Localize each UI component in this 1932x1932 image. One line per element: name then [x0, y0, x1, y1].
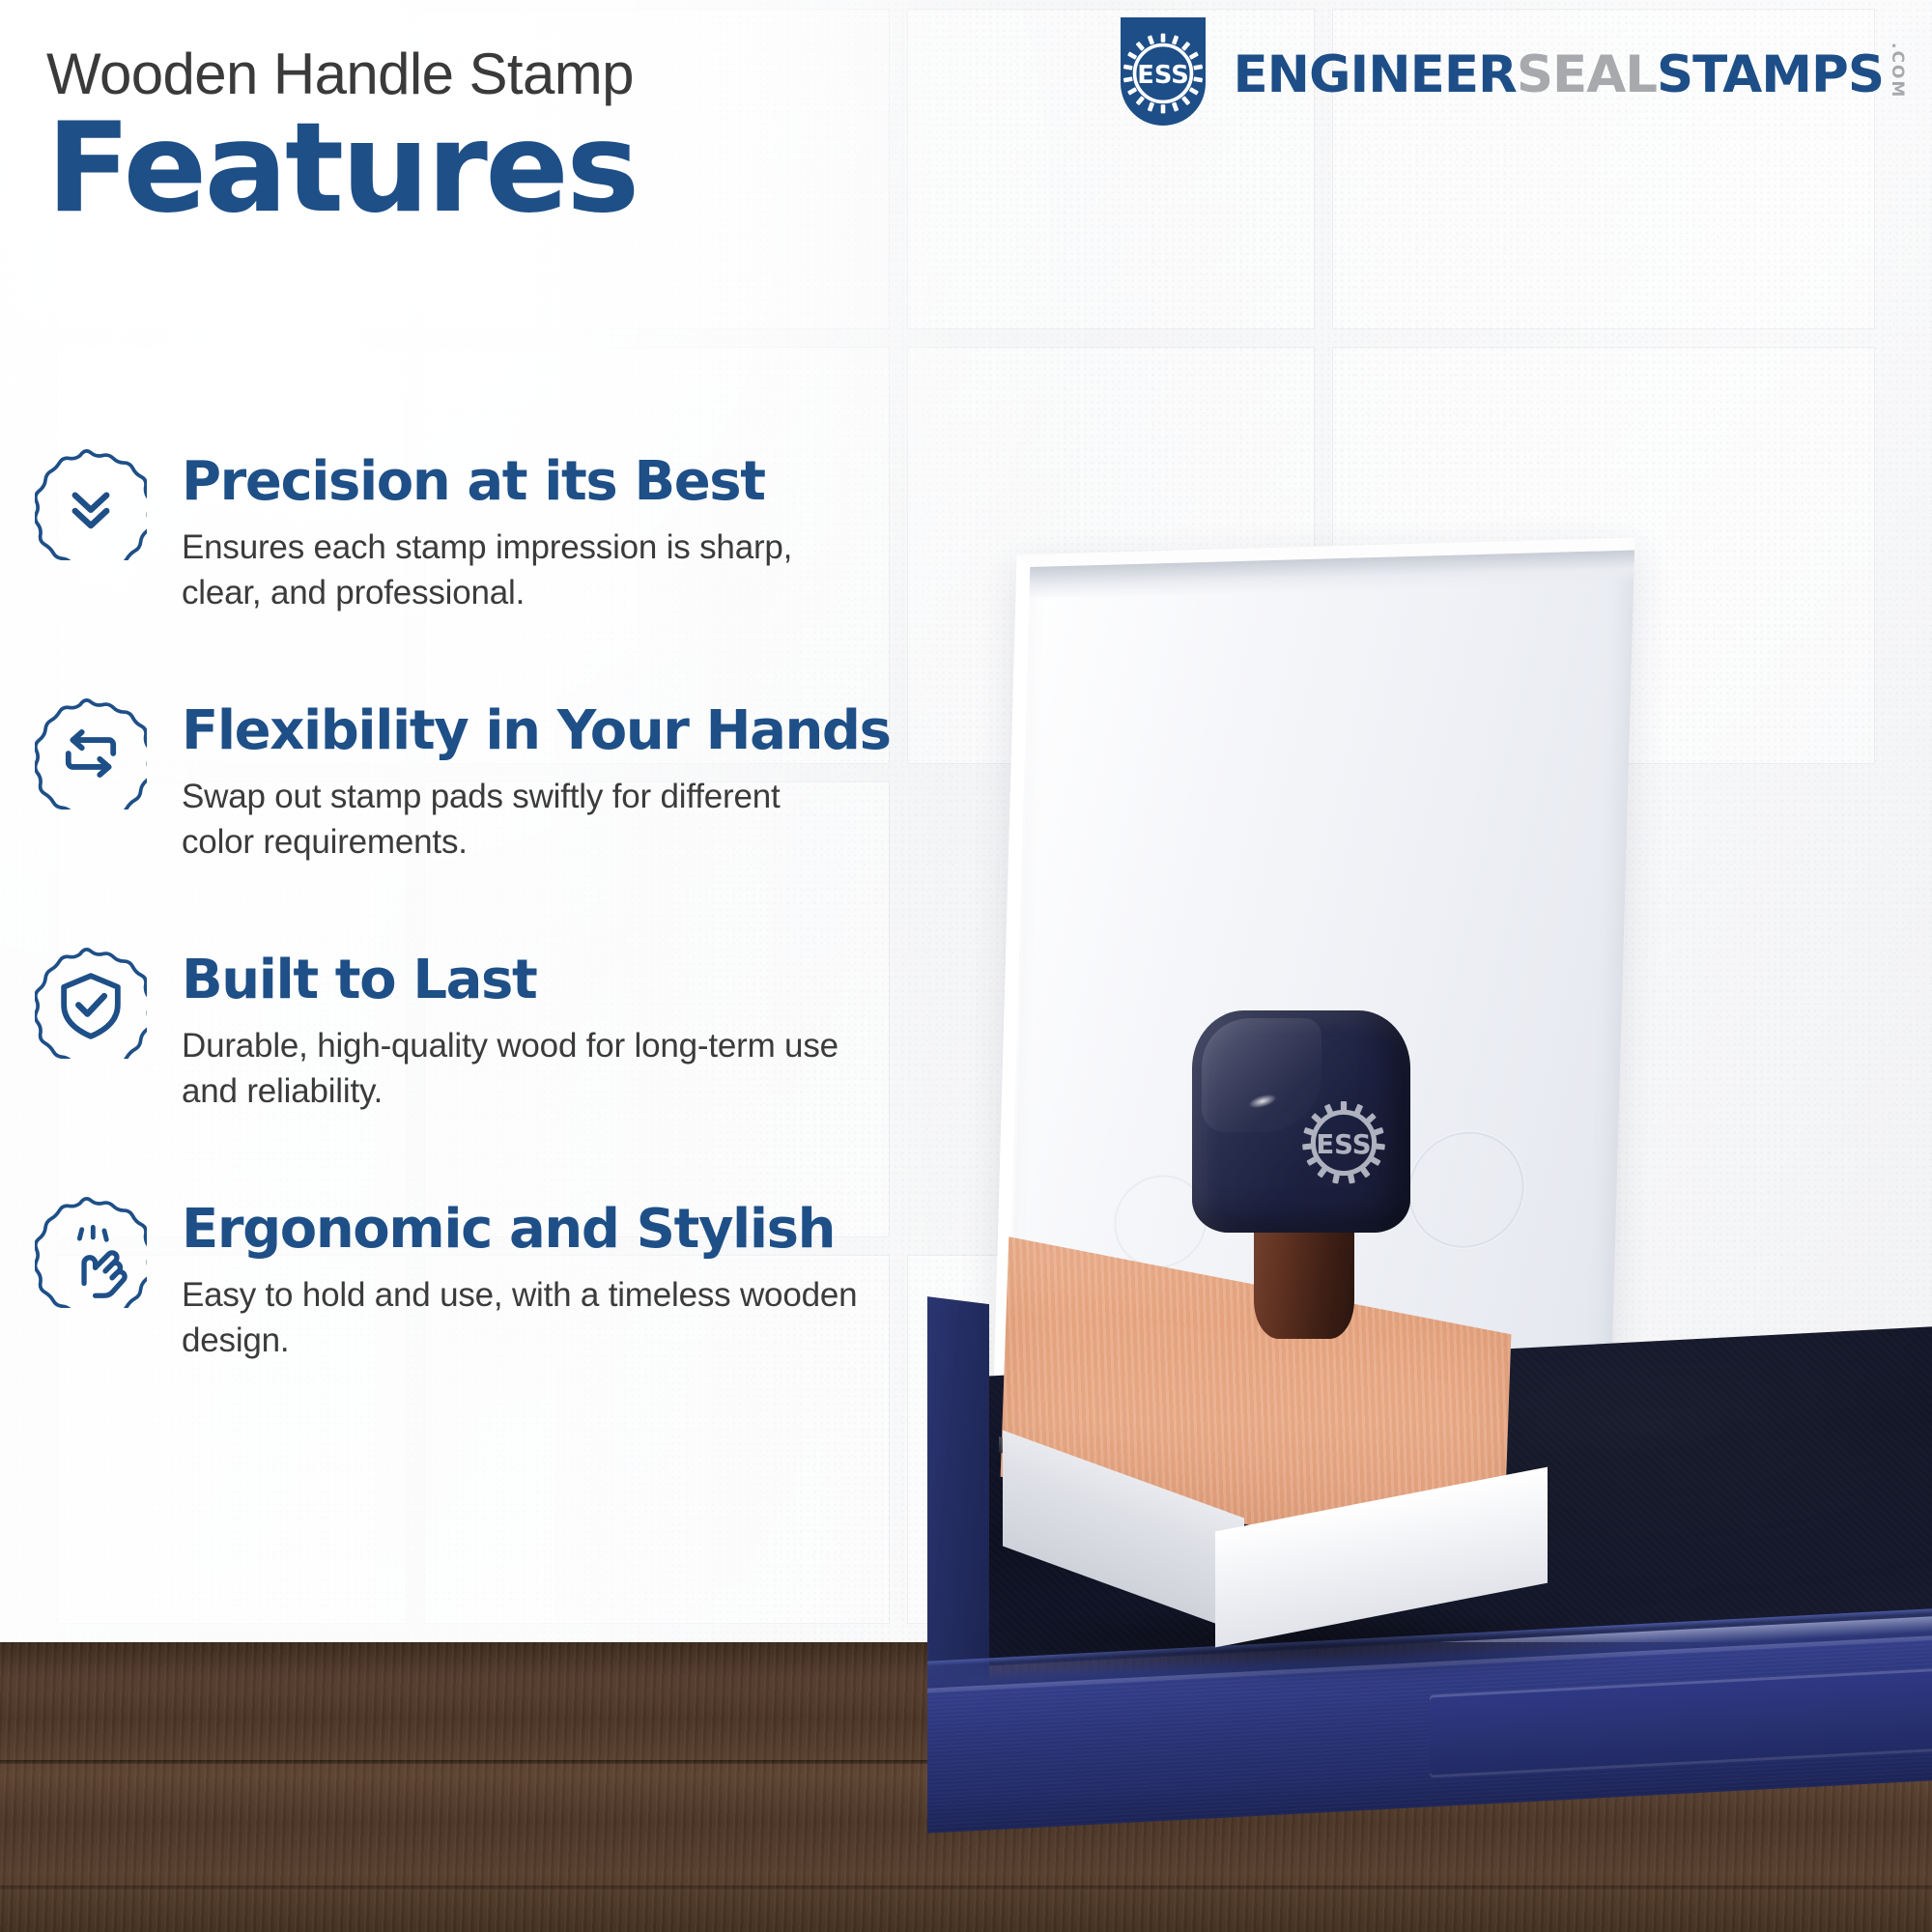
ess-seal-icon: ESS	[1107, 17, 1219, 126]
brand-word-stamps: STAMPS	[1657, 49, 1884, 100]
feature-list: Precision at its Best Ensures each stamp…	[35, 454, 933, 1366]
page-eyebrow: Wooden Handle Stamp	[46, 44, 935, 104]
feature-item: Flexibility in Your Hands Swap out stamp…	[35, 703, 933, 867]
feature-heading: Ergonomic and Stylish	[182, 1202, 933, 1258]
page-title: Features	[46, 110, 935, 229]
double-chevron-down-badge-icon	[35, 448, 147, 560]
brand-logo[interactable]: ESS ENGINEER SEAL STAMPS .COM	[1107, 17, 1905, 126]
feature-body: Ensures each stamp impression is sharp, …	[182, 526, 858, 615]
feature-item: Precision at its Best Ensures each stamp…	[35, 454, 933, 618]
brand-tld: .COM	[1889, 43, 1905, 99]
brand-wordmark: ENGINEER SEAL STAMPS .COM	[1233, 43, 1905, 100]
feature-body: Easy to hold and use, with a timeless wo…	[182, 1273, 858, 1363]
brand-word-engineer: ENGINEER	[1233, 49, 1516, 100]
page-header: Wooden Handle Stamp Features	[46, 44, 935, 229]
feature-body: Durable, high-quality wood for long-term…	[182, 1024, 858, 1114]
feature-item: Built to Last Durable, high-quality wood…	[35, 952, 933, 1117]
content-layer: Wooden Handle Stamp Features	[0, 0, 1932, 1932]
feature-item: Ergonomic and Stylish Easy to hold and u…	[35, 1202, 933, 1366]
gear-ring-icon: ESS	[1119, 29, 1207, 118]
hand-tap-badge-icon	[35, 1196, 147, 1308]
swap-arrows-badge-icon	[35, 697, 147, 810]
feature-heading: Flexibility in Your Hands	[182, 703, 933, 759]
shield-check-badge-icon	[35, 947, 147, 1059]
feature-heading: Built to Last	[182, 952, 933, 1009]
feature-heading: Precision at its Best	[182, 454, 933, 510]
logo-mark-text: ESS	[1138, 61, 1190, 90]
feature-body: Swap out stamp pads swiftly for differen…	[182, 775, 858, 865]
brand-word-seal: SEAL	[1517, 49, 1657, 100]
